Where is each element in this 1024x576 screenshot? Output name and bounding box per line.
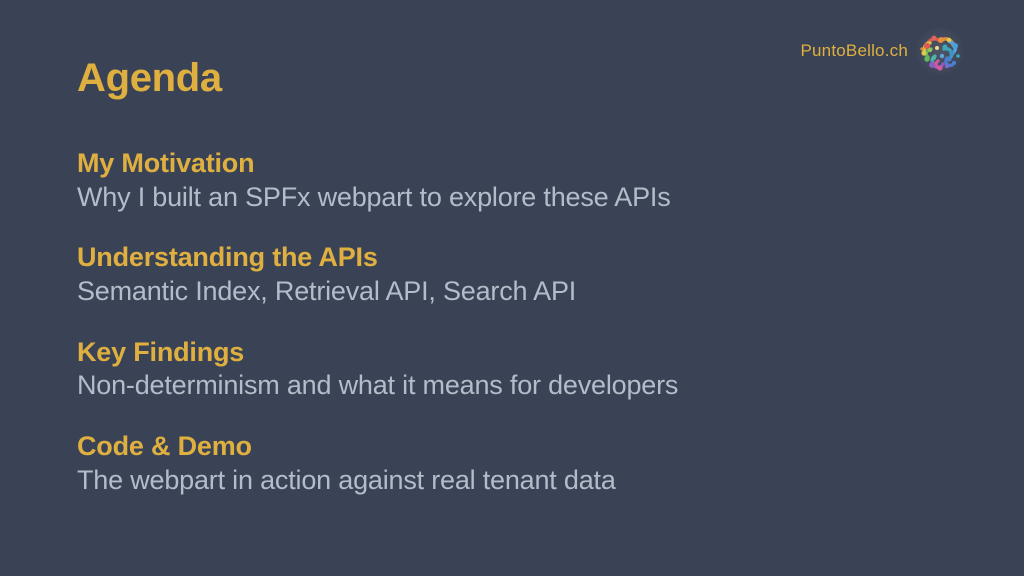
agenda-item-subtitle: Why I built an SPFx webpart to explore t… xyxy=(77,181,984,213)
agenda-item-code-and-demo: Code & Demo The webpart in action agains… xyxy=(77,431,984,496)
puntobello-molecule-logo-icon xyxy=(914,25,966,77)
agenda-item-heading: Understanding the APIs xyxy=(77,242,984,274)
page-title: Agenda xyxy=(77,56,222,101)
agenda-item-heading: My Motivation xyxy=(77,148,984,180)
brand-lockup: PuntoBello.ch xyxy=(800,22,966,80)
agenda-item-heading: Key Findings xyxy=(77,337,984,369)
brand-name-label: PuntoBello.ch xyxy=(800,42,908,61)
agenda-item-subtitle: Semantic Index, Retrieval API, Search AP… xyxy=(77,275,984,307)
presentation-slide: PuntoBello.ch xyxy=(0,0,1024,576)
agenda-item-my-motivation: My Motivation Why I built an SPFx webpar… xyxy=(77,148,984,213)
agenda-item-subtitle: Non-determinism and what it means for de… xyxy=(77,369,984,401)
agenda-item-heading: Code & Demo xyxy=(77,431,984,463)
agenda-list: My Motivation Why I built an SPFx webpar… xyxy=(77,148,984,496)
agenda-item-understanding-the-apis: Understanding the APIs Semantic Index, R… xyxy=(77,242,984,307)
agenda-item-key-findings: Key Findings Non-determinism and what it… xyxy=(77,337,984,402)
agenda-item-subtitle: The webpart in action against real tenan… xyxy=(77,464,984,496)
